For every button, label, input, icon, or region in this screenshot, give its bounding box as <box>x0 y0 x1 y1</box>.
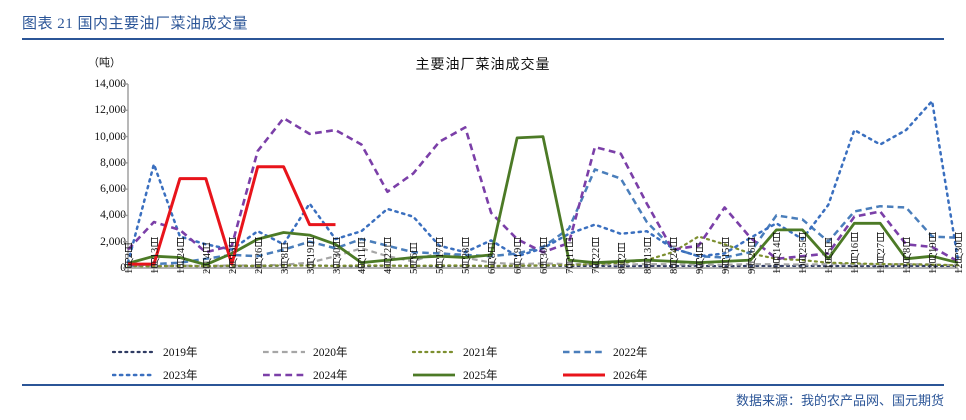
figure-header: 图表 21 国内主要油厂菜油成交量 <box>0 12 966 46</box>
legend-label: 2023年 <box>163 367 198 383</box>
x-axis-tick: 2月4日 <box>200 243 215 275</box>
x-axis-tick: 12月8日 <box>900 237 915 274</box>
x-axis-tick: 9月15日 <box>719 237 734 274</box>
x-axis-tick: 3月8日 <box>278 243 293 275</box>
legend-label: 2022年 <box>613 344 648 360</box>
x-axis-tick: 12月19日 <box>926 232 941 274</box>
legend-item-2026[interactable]: 2026年 <box>562 365 648 385</box>
x-axis-tick: 10月25日 <box>796 232 811 274</box>
x-axis-tick: 7月22日 <box>589 237 604 274</box>
legend-label: 2025年 <box>463 367 498 383</box>
x-axis-tick: 6月8日 <box>485 243 500 275</box>
x-axis-tick: 3月19日 <box>304 237 319 274</box>
legend-line-swatch <box>412 368 456 382</box>
legend-item-2025[interactable]: 2025年 <box>412 365 498 385</box>
legend-line-swatch <box>112 368 156 382</box>
x-axis-tick: 11月5日 <box>822 238 837 274</box>
x-axis-tick: 11月16日 <box>848 232 863 274</box>
x-axis-tick: 2月26日 <box>252 237 267 274</box>
chart-legend: 2019年2020年2021年2022年2023年2024年2025年2026年 <box>112 342 672 388</box>
legend-line-swatch <box>112 345 156 359</box>
legend-line-swatch <box>562 368 606 382</box>
plot-area: 02,0004,0006,0008,00010,00012,00014,000 … <box>0 46 966 382</box>
header-divider <box>22 38 944 40</box>
chart-container: 主要油厂菜油成交量 （吨） 02,0004,0006,0008,00010,00… <box>0 46 966 382</box>
x-axis-tick: 4月22日 <box>381 237 396 274</box>
page-title: 图表 21 国内主要油厂菜油成交量 <box>22 12 248 33</box>
legend-line-swatch <box>562 345 606 359</box>
x-axis-tick: 1月2日 <box>122 243 137 275</box>
x-axis-tick: 11月27日 <box>874 232 889 274</box>
legend-row: 2023年2024年2025年2026年 <box>112 365 672 385</box>
legend-item-2023[interactable]: 2023年 <box>112 365 198 385</box>
legend-item-2019[interactable]: 2019年 <box>112 342 198 362</box>
legend-label: 2024年 <box>313 367 348 383</box>
legend-label: 2020年 <box>313 344 348 360</box>
x-axis-tick: 8月24日 <box>667 237 682 274</box>
legend-row: 2019年2020年2021年2022年 <box>112 342 672 362</box>
x-axis-tick: 10月14日 <box>770 232 785 274</box>
footer-divider <box>22 384 944 386</box>
legend-label: 2019年 <box>163 344 198 360</box>
legend-item-2022[interactable]: 2022年 <box>562 342 648 362</box>
x-axis-tick: 8月13日 <box>641 237 656 274</box>
x-axis-tick: 8月2日 <box>615 243 630 275</box>
legend-label: 2021年 <box>463 344 498 360</box>
legend-line-swatch <box>262 368 306 382</box>
x-axis-tick: 9月26日 <box>745 237 760 274</box>
data-source-note: 数据来源：我的农产品网、国元期货 <box>736 390 944 409</box>
legend-item-2021[interactable]: 2021年 <box>412 342 498 362</box>
x-axis-tick: 3月30日 <box>330 237 345 274</box>
x-axis-tick: 5月6日 <box>407 243 422 275</box>
x-axis-tick: 1月24日 <box>174 237 189 274</box>
x-axis-tick: 9月4日 <box>693 243 708 275</box>
legend-item-2024[interactable]: 2024年 <box>262 365 348 385</box>
legend-label: 2026年 <box>613 367 648 383</box>
x-axis-tick: 5月17日 <box>433 237 448 274</box>
x-axis-tick: 1月13日 <box>148 237 163 274</box>
x-axis-tick: 5月28日 <box>459 237 474 274</box>
x-axis-tick: 2月15日 <box>226 237 241 274</box>
legend-line-swatch <box>412 345 456 359</box>
x-axis-tick: 12月30日 <box>952 232 966 274</box>
x-axis-tick: 6月19日 <box>511 237 526 274</box>
legend-item-2020[interactable]: 2020年 <box>262 342 348 362</box>
x-axis-tick: 6月30日 <box>537 237 552 274</box>
x-axis-tick-labels: 1月2日1月13日1月24日2月4日2月15日2月26日3月8日3月19日3月3… <box>0 46 966 382</box>
x-axis-tick: 7月11日 <box>563 238 578 274</box>
figure-page: 图表 21 国内主要油厂菜油成交量 主要油厂菜油成交量 （吨） 02,0004,… <box>0 0 966 420</box>
legend-line-swatch <box>262 345 306 359</box>
x-axis-tick: 4月11日 <box>355 238 370 274</box>
